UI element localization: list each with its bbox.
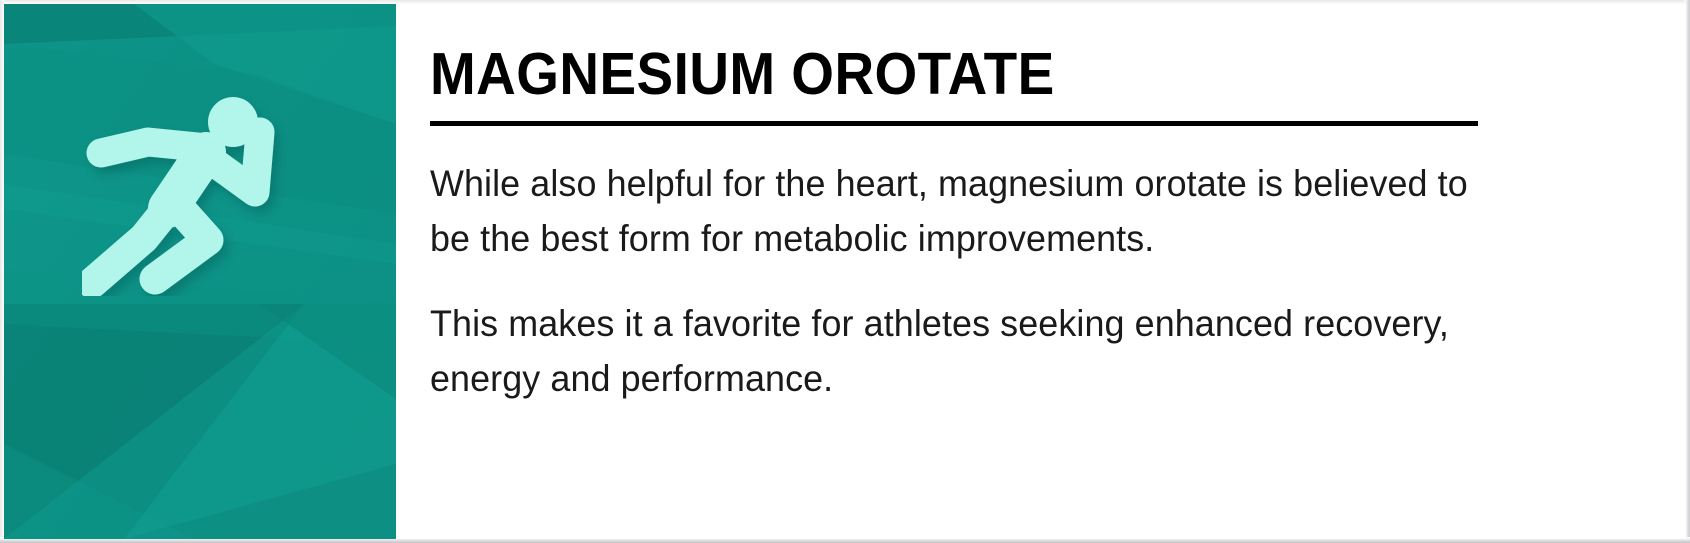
- supplement-info-card: MAGNESIUM OROTATE While also helpful for…: [0, 0, 1690, 543]
- body-paragraph-1: While also helpful for the heart, magnes…: [430, 156, 1507, 266]
- title-underline-rule: [430, 121, 1478, 126]
- page-title: MAGNESIUM OROTATE: [430, 42, 1055, 106]
- card-image-panel: [4, 4, 396, 539]
- running-person-icon: [82, 90, 308, 296]
- card-body: While also helpful for the heart, magnes…: [430, 156, 1540, 406]
- card-text-panel: MAGNESIUM OROTATE While also helpful for…: [396, 4, 1686, 539]
- body-paragraph-2: This makes it a favorite for athletes se…: [430, 296, 1507, 406]
